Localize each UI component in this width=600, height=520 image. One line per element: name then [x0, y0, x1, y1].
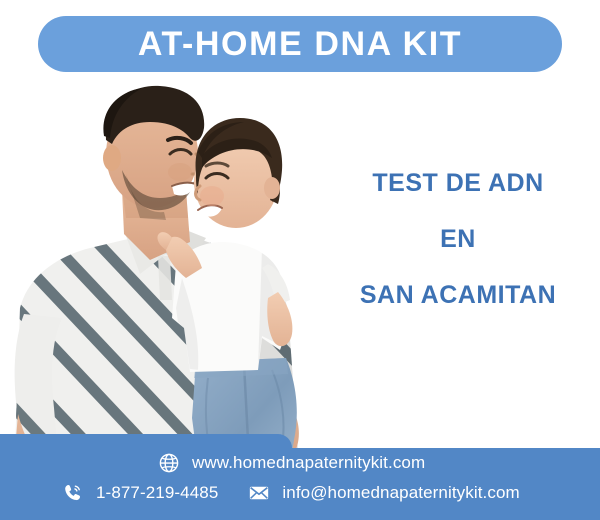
- banner-title: AT-HOME DNA KIT: [138, 27, 462, 61]
- poster-canvas: AT-HOME DNA KIT: [0, 0, 600, 520]
- headline-line-1: TEST DE ADN: [330, 155, 586, 211]
- footer-website[interactable]: www.homednapaternitykit.com: [158, 452, 425, 474]
- footer-row-website: www.homednapaternitykit.com: [158, 450, 425, 476]
- globe-icon: [158, 452, 180, 474]
- footer-email-label: info@homednapaternitykit.com: [282, 482, 519, 504]
- footer-top-notch: [0, 434, 292, 448]
- footer-phone-label: 1-877-219-4485: [96, 482, 218, 504]
- headline-line-3: SAN ACAMITAN: [330, 267, 586, 323]
- footer-email[interactable]: info@homednapaternitykit.com: [248, 482, 519, 504]
- hero-photo: [0, 78, 330, 478]
- footer-contact-rows: www.homednapaternitykit.com 1-877-219-44…: [0, 448, 600, 520]
- footer-phone[interactable]: 1-877-219-4485: [62, 482, 218, 504]
- envelope-icon: [248, 482, 270, 504]
- footer-website-label: www.homednapaternitykit.com: [192, 452, 425, 474]
- phone-icon: [62, 482, 84, 504]
- footer-bar: www.homednapaternitykit.com 1-877-219-44…: [0, 448, 600, 520]
- headline-block: TEST DE ADN EN SAN ACAMITAN: [330, 155, 586, 323]
- header-banner: AT-HOME DNA KIT: [38, 16, 562, 72]
- father-and-child-photo: [0, 78, 330, 478]
- footer-row-phone-email: 1-877-219-4485 info@homednapaternitykit.…: [62, 480, 520, 506]
- headline-line-2: EN: [330, 211, 586, 267]
